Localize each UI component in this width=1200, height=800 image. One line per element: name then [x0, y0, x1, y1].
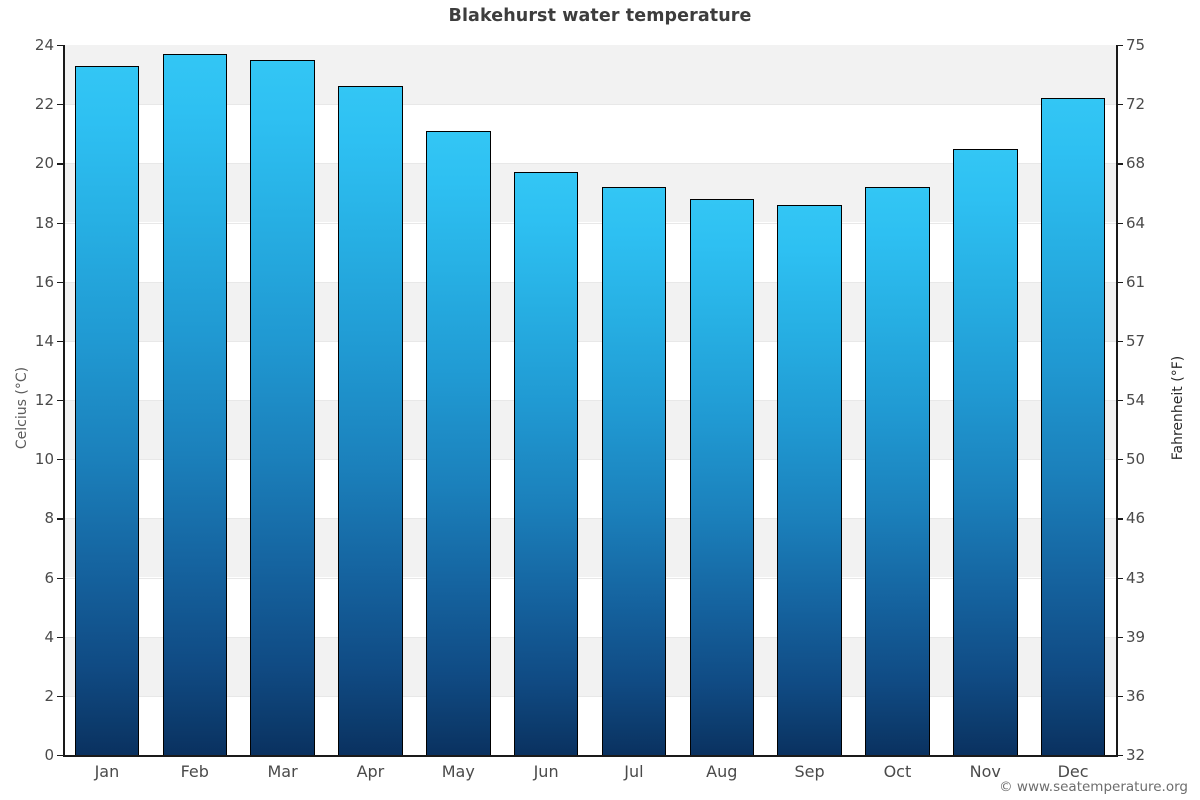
- bar-aug: [690, 199, 755, 755]
- y-tick-left-mark: [57, 104, 63, 105]
- bar-dec: [1041, 98, 1106, 755]
- x-tick-label-jun: Jun: [534, 762, 559, 781]
- y-tick-left-label: 18: [14, 214, 54, 232]
- copyright-credit: © www.seatemperature.org: [999, 779, 1188, 795]
- y-tick-right-mark: [1117, 400, 1123, 401]
- y-tick-right-label: 36: [1126, 687, 1172, 705]
- bar-jul: [602, 187, 667, 755]
- bar-oct: [865, 187, 930, 755]
- plot-area: [63, 45, 1117, 755]
- y-tick-left-label: 6: [14, 569, 54, 587]
- y-tick-left-mark: [57, 459, 63, 460]
- y-tick-left-mark: [57, 45, 63, 46]
- x-tick-label-sep: Sep: [795, 762, 825, 781]
- y-tick-right-label: 75: [1126, 36, 1172, 54]
- y-tick-right-label: 46: [1126, 509, 1172, 527]
- x-axis-line: [63, 755, 1118, 757]
- x-tick-label-aug: Aug: [706, 762, 737, 781]
- chart-title: Blakehurst water temperature: [0, 6, 1200, 26]
- y-tick-left-mark: [57, 518, 63, 519]
- y-tick-left-mark: [57, 282, 63, 283]
- bar-sep: [777, 205, 842, 755]
- y-tick-left-mark: [57, 223, 63, 224]
- y-tick-left-mark: [57, 755, 63, 756]
- x-tick-label-oct: Oct: [884, 762, 912, 781]
- y-tick-left-label: 0: [14, 746, 54, 764]
- y-tick-left-mark: [57, 637, 63, 638]
- x-tick-label-jan: Jan: [95, 762, 120, 781]
- y-tick-right-mark: [1117, 282, 1123, 283]
- y-tick-right-label: 54: [1126, 391, 1172, 409]
- y-tick-left-mark: [57, 578, 63, 579]
- bar-feb: [163, 54, 228, 755]
- y-tick-right-label: 68: [1126, 154, 1172, 172]
- bar-may: [426, 131, 491, 755]
- y-axis-left-line: [63, 45, 65, 756]
- x-tick-label-jul: Jul: [624, 762, 643, 781]
- bar-series: [63, 45, 1117, 755]
- y-tick-right-mark: [1117, 223, 1123, 224]
- y-tick-left-mark: [57, 341, 63, 342]
- y-tick-right-mark: [1117, 578, 1123, 579]
- y-tick-right-mark: [1117, 518, 1123, 519]
- y-tick-left-label: 4: [14, 628, 54, 646]
- y-tick-right-label: 57: [1126, 332, 1172, 350]
- y-tick-right-label: 32: [1126, 746, 1172, 764]
- y-tick-right-label: 64: [1126, 214, 1172, 232]
- x-tick-label-nov: Nov: [970, 762, 1001, 781]
- y-tick-right-mark: [1117, 755, 1123, 756]
- y-axis-left-title: Celcius (°C): [14, 308, 30, 508]
- y-tick-right-mark: [1117, 163, 1123, 164]
- y-tick-left-label: 24: [14, 36, 54, 54]
- x-tick-label-apr: Apr: [357, 762, 385, 781]
- x-tick-label-mar: Mar: [267, 762, 297, 781]
- y-tick-left-label: 22: [14, 95, 54, 113]
- y-tick-right-label: 61: [1126, 273, 1172, 291]
- y-tick-right-mark: [1117, 45, 1123, 46]
- bar-mar: [250, 60, 315, 755]
- y-tick-right-label: 43: [1126, 569, 1172, 587]
- y-tick-right-mark: [1117, 696, 1123, 697]
- y-tick-right-label: 50: [1126, 450, 1172, 468]
- water-temperature-chart: Blakehurst water temperature 02468101214…: [0, 0, 1200, 800]
- y-tick-right-mark: [1117, 459, 1123, 460]
- y-tick-right-mark: [1117, 637, 1123, 638]
- x-tick-label-feb: Feb: [181, 762, 209, 781]
- y-tick-left-label: 16: [14, 273, 54, 291]
- y-tick-left-label: 8: [14, 509, 54, 527]
- y-axis-right-title: Fahrenheit (°F): [1170, 308, 1186, 508]
- y-tick-right-label: 72: [1126, 95, 1172, 113]
- y-tick-left-mark: [57, 163, 63, 164]
- bar-apr: [338, 86, 403, 755]
- y-tick-left-label: 20: [14, 154, 54, 172]
- bar-nov: [953, 149, 1018, 755]
- x-tick-label-may: May: [442, 762, 475, 781]
- bar-jan: [75, 66, 140, 755]
- y-tick-left-mark: [57, 400, 63, 401]
- y-tick-right-label: 39: [1126, 628, 1172, 646]
- bar-jun: [514, 172, 579, 755]
- y-tick-left-mark: [57, 696, 63, 697]
- y-tick-left-label: 2: [14, 687, 54, 705]
- y-tick-right-mark: [1117, 341, 1123, 342]
- y-tick-right-mark: [1117, 104, 1123, 105]
